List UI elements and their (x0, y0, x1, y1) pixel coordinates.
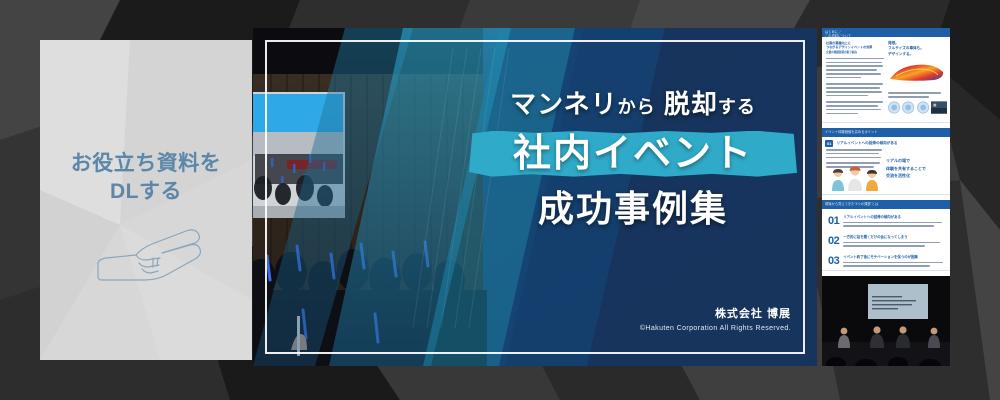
ebook-cover-slide[interactable]: マンネリから 脱却する 社内イベント 成功事例集 株式会社 博展 ©Hakute… (253, 28, 817, 366)
thumb-body: 01 リアルイベントへの回帰の傾向がある 02 一方的に話を聞くだけの会になって… (822, 209, 950, 276)
issue-title: リアルイベントへの回帰の傾向がある (843, 215, 946, 220)
section-number-badge: 01 (825, 140, 833, 147)
people-illustration-icon (828, 165, 882, 193)
car-graphic-icon (888, 60, 946, 84)
thumb-header-label: 現場から見えてきた"3つの課題"とは (825, 202, 878, 206)
headline-word-mannneri: マンネリ (510, 89, 617, 119)
thumbnail-page-section-01[interactable]: イベント体験価値を高めるポイント 01 リアルイベントへの回帰の傾向がある (822, 128, 950, 200)
headline-suffix-suru: する (718, 97, 756, 117)
section-title: リアルイベントへの回帰の傾向がある (836, 141, 897, 146)
diagram-icon-1 (888, 101, 900, 114)
thumb-left-subheading: 企業の価値創造の取り組み (826, 51, 884, 55)
issue-title: イベント終了後にモチベーションを保つのが困難 (843, 255, 946, 260)
issue-number: 01 (828, 215, 839, 227)
slide-credit-block: 株式会社 博展 ©Hakuten Corporation All Rights … (640, 305, 791, 332)
issue-number: 02 (828, 235, 839, 247)
thumbnail-page-intro[interactable]: はじめに／ この資料について 社員の意識向上に つながるデザインイベントの効果 … (822, 28, 950, 128)
diagram-icon-3 (917, 101, 929, 114)
slide-headline: マンネリから 脱却する 社内イベント 成功事例集 (461, 90, 805, 228)
page-thumbnail-column[interactable]: はじめに／ この資料について 社員の意識向上に つながるデザインイベントの効果 … (822, 28, 950, 366)
copyright-notice: ©Hakuten Corporation All Rights Reserved… (640, 325, 791, 332)
thumb-header-bar: イベント体験価値を高めるポイント (822, 128, 950, 137)
thumbnail-page-stage-photo[interactable] (822, 276, 950, 366)
issue-row: 01 リアルイベントへの回帰の傾向がある (828, 215, 946, 229)
issue-row: 03 イベント終了後にモチベーションを保つのが困難 (828, 255, 946, 269)
thumb-right-heading: 発想。 フルサイズの車体も。 デザインする。 (888, 41, 947, 57)
thumbnail-page-issues[interactable]: 現場から見えてきた"3つの課題"とは 01 リアルイベントへの回帰の傾向がある … (822, 200, 950, 276)
issue-title: 一方的に話を聞くだけの会になってしまう (843, 235, 946, 240)
headline-line-1: マンネリから 脱却する (461, 90, 805, 119)
thumb-body: 社員の意識向上に つながるデザインイベントの効果 企業の価値創造の取り組み (822, 37, 950, 128)
thumb-header-bar: 現場から見えてきた"3つの課題"とは (822, 200, 950, 209)
download-cta-panel[interactable]: お役立ち資料を DLする (40, 40, 252, 360)
headline-word-dakkyaku: 脱却 (664, 89, 718, 119)
cta-label: お役立ち資料を DLする (40, 150, 252, 205)
headline-line-3: 成功事例集 (461, 189, 805, 229)
company-name: 株式会社 博展 (640, 305, 791, 321)
photo-thumb-icon (931, 101, 947, 114)
diagram-icon-2 (902, 101, 914, 114)
thumb-header-bar: はじめに／ この資料について (822, 28, 950, 37)
panel-discussion-stage-photo (822, 276, 950, 366)
thumb-body: 01 リアルイベントへの回帰の傾向がある (822, 137, 950, 200)
pointing-hand-icon (90, 222, 210, 292)
headline-particle-kara: から (618, 97, 656, 117)
issue-row: 02 一方的に話を聞くだけの会になってしまう (828, 235, 946, 249)
page-root: お役立ち資料を DLする (0, 0, 1000, 400)
issue-number: 03 (828, 255, 839, 267)
headline-highlight-wrapper: 社内イベント (461, 129, 805, 179)
callout-text: リアルの場で 体験を共有することで 交流を活性化 (886, 157, 926, 180)
thumb-header-label: イベント体験価値を高めるポイント (825, 130, 878, 134)
headline-line-2: 社内イベント (461, 129, 805, 179)
thumb-left-heading: 社員の意識向上に つながるデザインイベントの効果 (826, 41, 884, 49)
